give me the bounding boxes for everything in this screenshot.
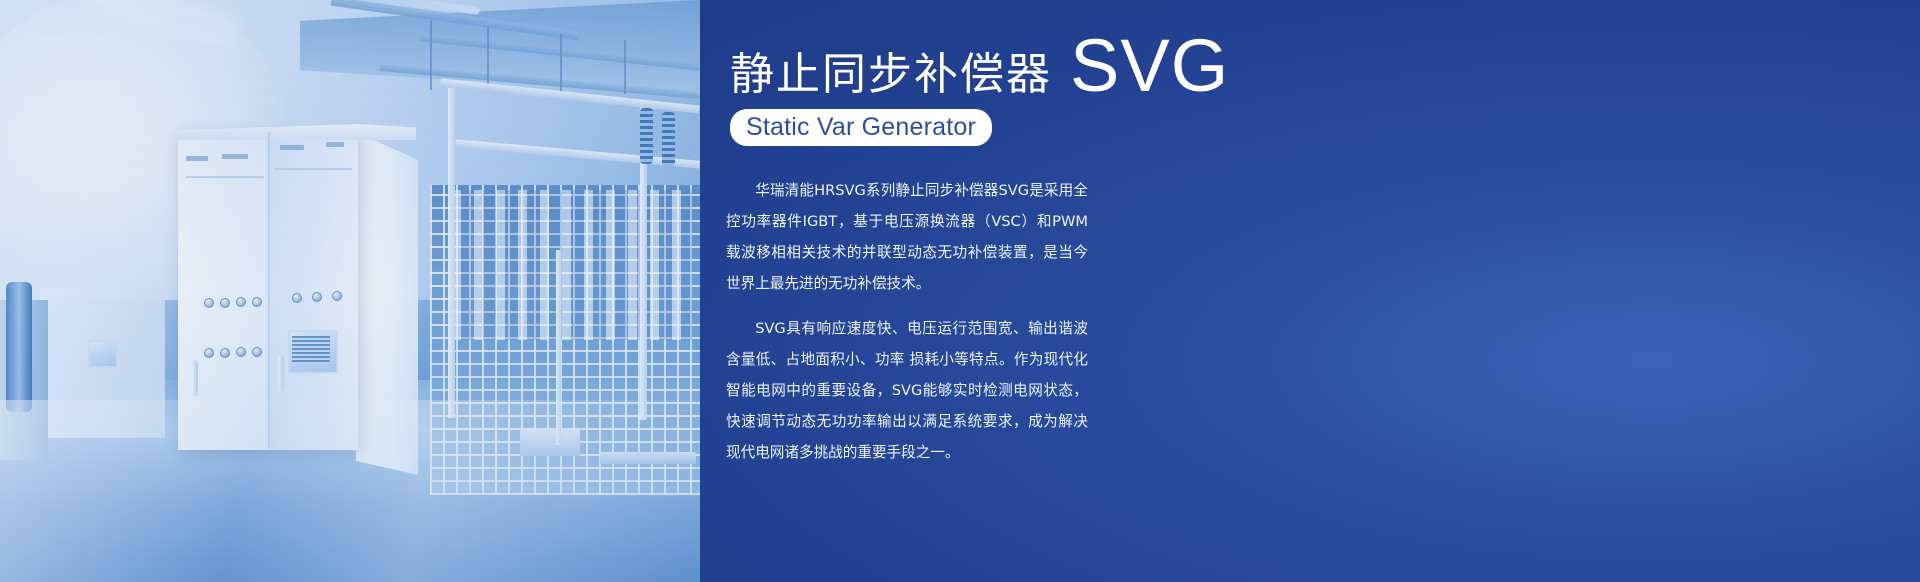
content-panel: 静止同步补偿器 SVG Static Var Generator 华瑞清能HRS… xyxy=(700,0,1920,582)
left-facility-photo xyxy=(0,0,700,582)
headline-row: 静止同步补偿器 SVG xyxy=(730,36,1229,97)
english-subtitle-badge: Static Var Generator xyxy=(730,109,992,146)
body-copy: 华瑞清能HRSVG系列静止同步补偿器SVG是采用全控功率器件IGBT，基于电压源… xyxy=(726,175,1088,468)
paragraph-2: SVG具有响应速度快、电压运行范围宽、输出谐波含量低、占地面积小、功率 损耗小等… xyxy=(726,313,1088,468)
headline-block: 静止同步补偿器 SVG Static Var Generator xyxy=(730,36,1229,146)
chinese-title: 静止同步补偿器 xyxy=(730,53,1052,97)
photo-blue-tint-overlay xyxy=(0,0,700,582)
product-banner: 静止同步补偿器 SVG Static Var Generator 华瑞清能HRS… xyxy=(0,0,1920,582)
paragraph-1: 华瑞清能HRSVG系列静止同步补偿器SVG是采用全控功率器件IGBT，基于电压源… xyxy=(726,175,1088,299)
svg-abbreviation: SVG xyxy=(1070,36,1229,97)
